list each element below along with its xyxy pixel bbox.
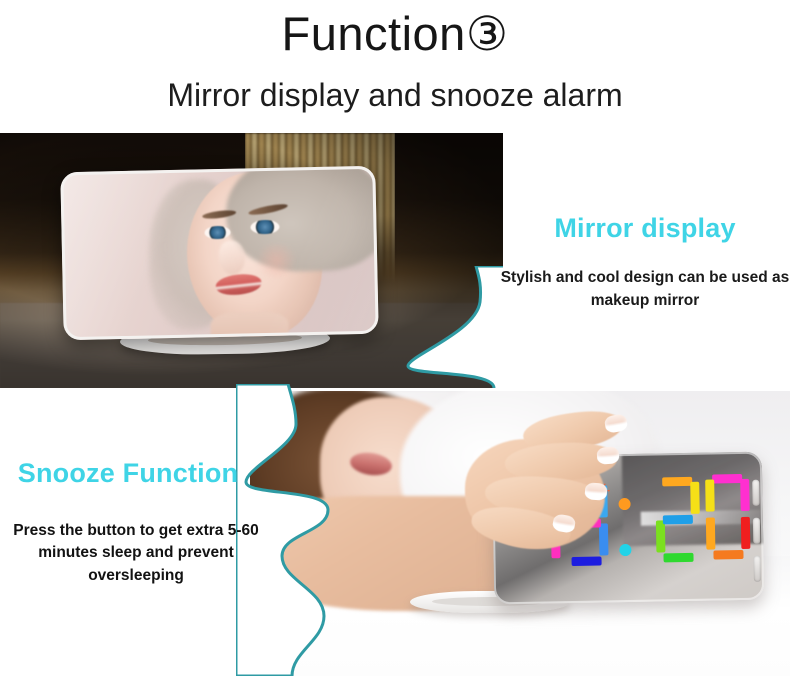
fingernail — [604, 413, 629, 434]
hand-pressing-clock — [445, 409, 630, 559]
product-feature-page: Function③ Mirror display and snooze alar… — [0, 0, 790, 676]
mirror-display-description: Stylish and cool design can be used as m… — [500, 266, 790, 313]
wave-divider-top — [398, 266, 503, 388]
mirror-clock-device — [60, 166, 378, 341]
header: Function③ Mirror display and snooze alar… — [0, 0, 790, 133]
mirror-frame — [60, 166, 378, 341]
mirror-display-heading: Mirror display — [505, 213, 785, 244]
fingernail — [584, 482, 607, 500]
page-subtitle: Mirror display and snooze alarm — [0, 78, 790, 113]
mirror-scene-photo — [0, 133, 503, 388]
snooze-function-description: Press the button to get extra 5-60 minut… — [0, 520, 272, 587]
page-title: Function③ — [0, 8, 790, 60]
snooze-function-heading: Snooze Function — [8, 458, 248, 489]
